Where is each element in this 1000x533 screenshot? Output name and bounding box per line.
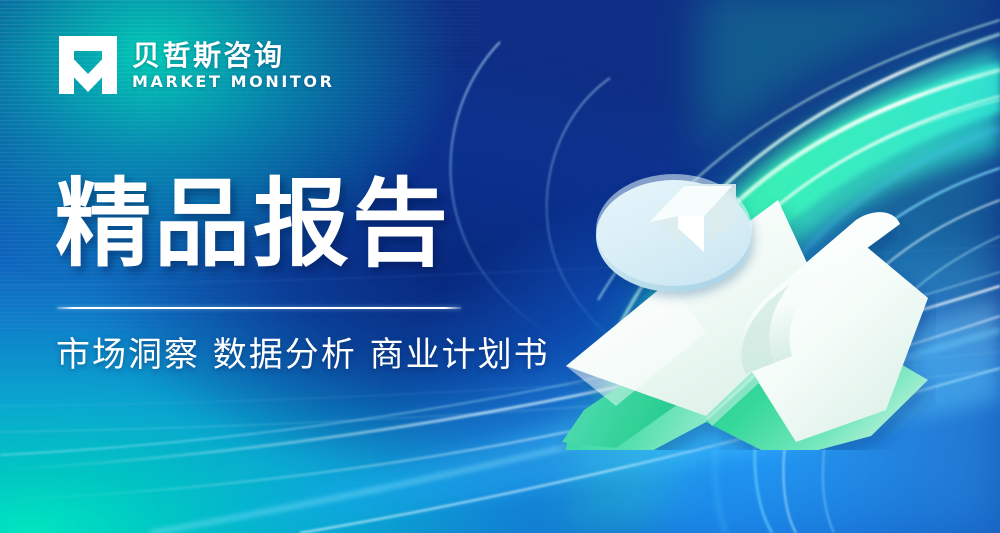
thin-arc-left <box>451 42 566 344</box>
headline-divider <box>57 307 461 309</box>
brand-logo[interactable]: 贝哲斯咨询 MARKET MONITOR <box>57 34 335 96</box>
logo-name-cn: 贝哲斯咨询 <box>132 42 335 70</box>
headline-title: 精品报告 <box>55 176 451 272</box>
promo-banner: 贝哲斯咨询 MARKET MONITOR 精品报告 市场洞察 数据分析 商业计划… <box>0 0 1000 533</box>
market-monitor-m-mark-icon <box>57 34 119 96</box>
subtitle-text: 市场洞察 数据分析 商业计划书 <box>56 334 550 377</box>
logo-wordmark: 贝哲斯咨询 MARKET MONITOR <box>132 40 335 90</box>
logo-name-en: MARKET MONITOR <box>132 74 335 90</box>
open-book-3d-illustration <box>556 160 936 450</box>
